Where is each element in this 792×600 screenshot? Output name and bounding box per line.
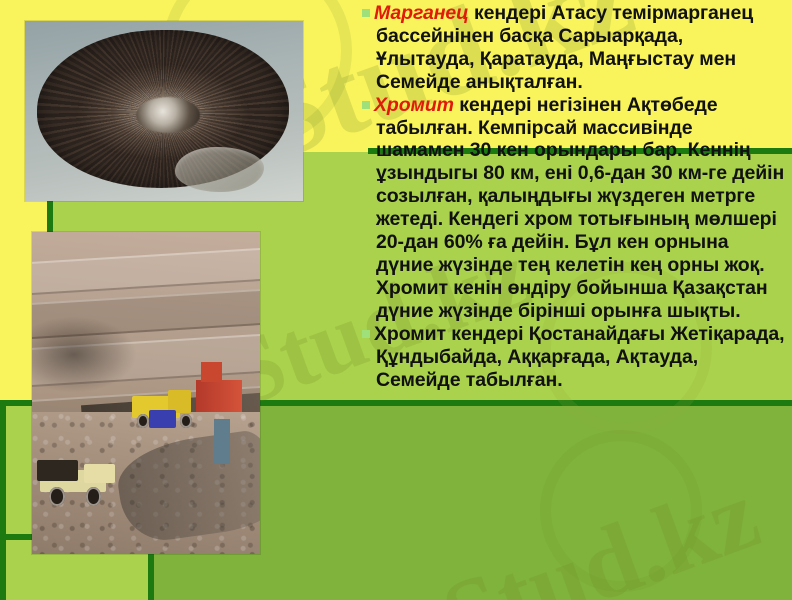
slide-canvas: Stud.kz Stud.kz Stud.kz [0, 0, 792, 600]
bullet-marker-icon [362, 101, 370, 109]
bullet-paragraph-chromite-aktobe: Хромит кендері негізінен Ақтөбеде табылғ… [362, 94, 792, 323]
bullet-marker-icon [362, 330, 370, 338]
quarry-pipe-structure [214, 419, 230, 464]
keyword-chromite-aktobe: Хромит [374, 94, 454, 116]
slide-text-column: Марганец кендері Атасу темірмарганец бас… [362, 0, 792, 391]
quarry-shadow [32, 316, 137, 393]
bullet-marker-icon [362, 9, 370, 17]
divider-vertical-bottom-left-edge [0, 400, 6, 600]
chromite-quarry-photo [32, 232, 260, 554]
haul-truck [132, 387, 210, 429]
haul-truck-bed [37, 460, 79, 480]
haul-truck-wheel [137, 414, 149, 428]
bullet-paragraph-chromite-kostanay: Хромит кендері Қостанайдағы Жетіқарада, … [362, 323, 792, 392]
haul-truck-wheel [180, 414, 192, 428]
haul-truck-wheel [86, 487, 102, 505]
quarry-bench [32, 247, 260, 295]
bullet-paragraph-manganese: Марганец кендері Атасу темірмарганец бас… [362, 0, 792, 94]
manganese-ore-photo [25, 21, 303, 201]
keyword-manganese: Марганец [374, 2, 469, 24]
bullet-body-chromite-aktobe: кендері негізінен Ақтөбеде табылған. Кем… [376, 94, 784, 322]
haul-truck [37, 457, 128, 505]
ore-chip-fragment [175, 147, 264, 192]
haul-truck-cab [84, 464, 115, 483]
haul-truck-wheel [49, 487, 65, 505]
bullet-body-chromite-kostanay-keyword: Хромит [374, 323, 446, 345]
haul-truck-cab [149, 410, 175, 428]
ore-core-highlight [136, 97, 200, 133]
